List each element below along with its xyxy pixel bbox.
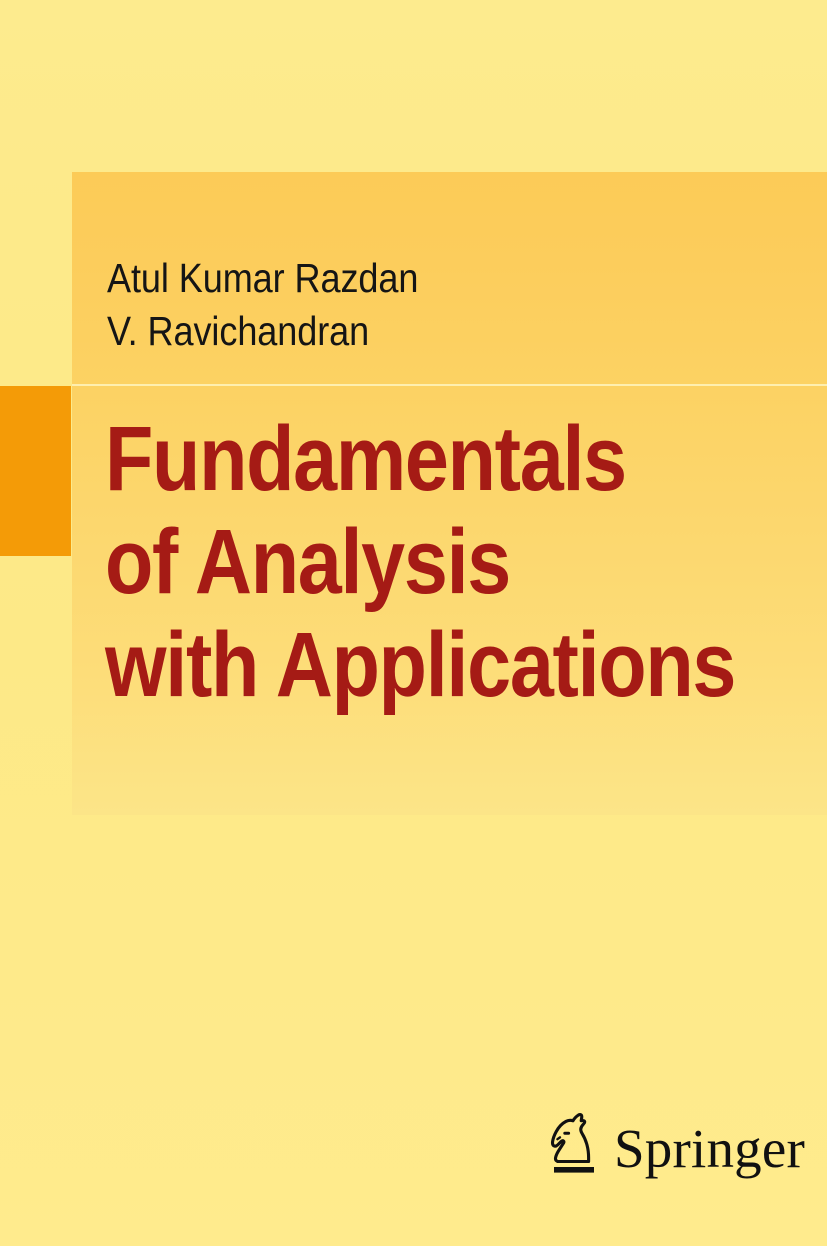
orange-accent-block	[0, 386, 71, 556]
title-line-3: with Applications	[105, 614, 707, 717]
springer-knight-icon	[548, 1112, 600, 1178]
book-title: Fundamentals of Analysis with Applicatio…	[105, 408, 805, 717]
publisher-name: Springer	[614, 1120, 805, 1178]
author-name-2: V. Ravichandran	[107, 305, 670, 358]
book-cover: Atul Kumar Razdan V. Ravichandran Fundam…	[0, 0, 827, 1246]
panel-divider	[72, 384, 827, 386]
author-block: Atul Kumar Razdan V. Ravichandran	[107, 252, 747, 358]
title-line-2: of Analysis	[105, 511, 707, 614]
title-line-1: Fundamentals	[105, 408, 707, 511]
author-name-1: Atul Kumar Razdan	[107, 252, 670, 305]
publisher-logo: Springer	[548, 1112, 805, 1178]
